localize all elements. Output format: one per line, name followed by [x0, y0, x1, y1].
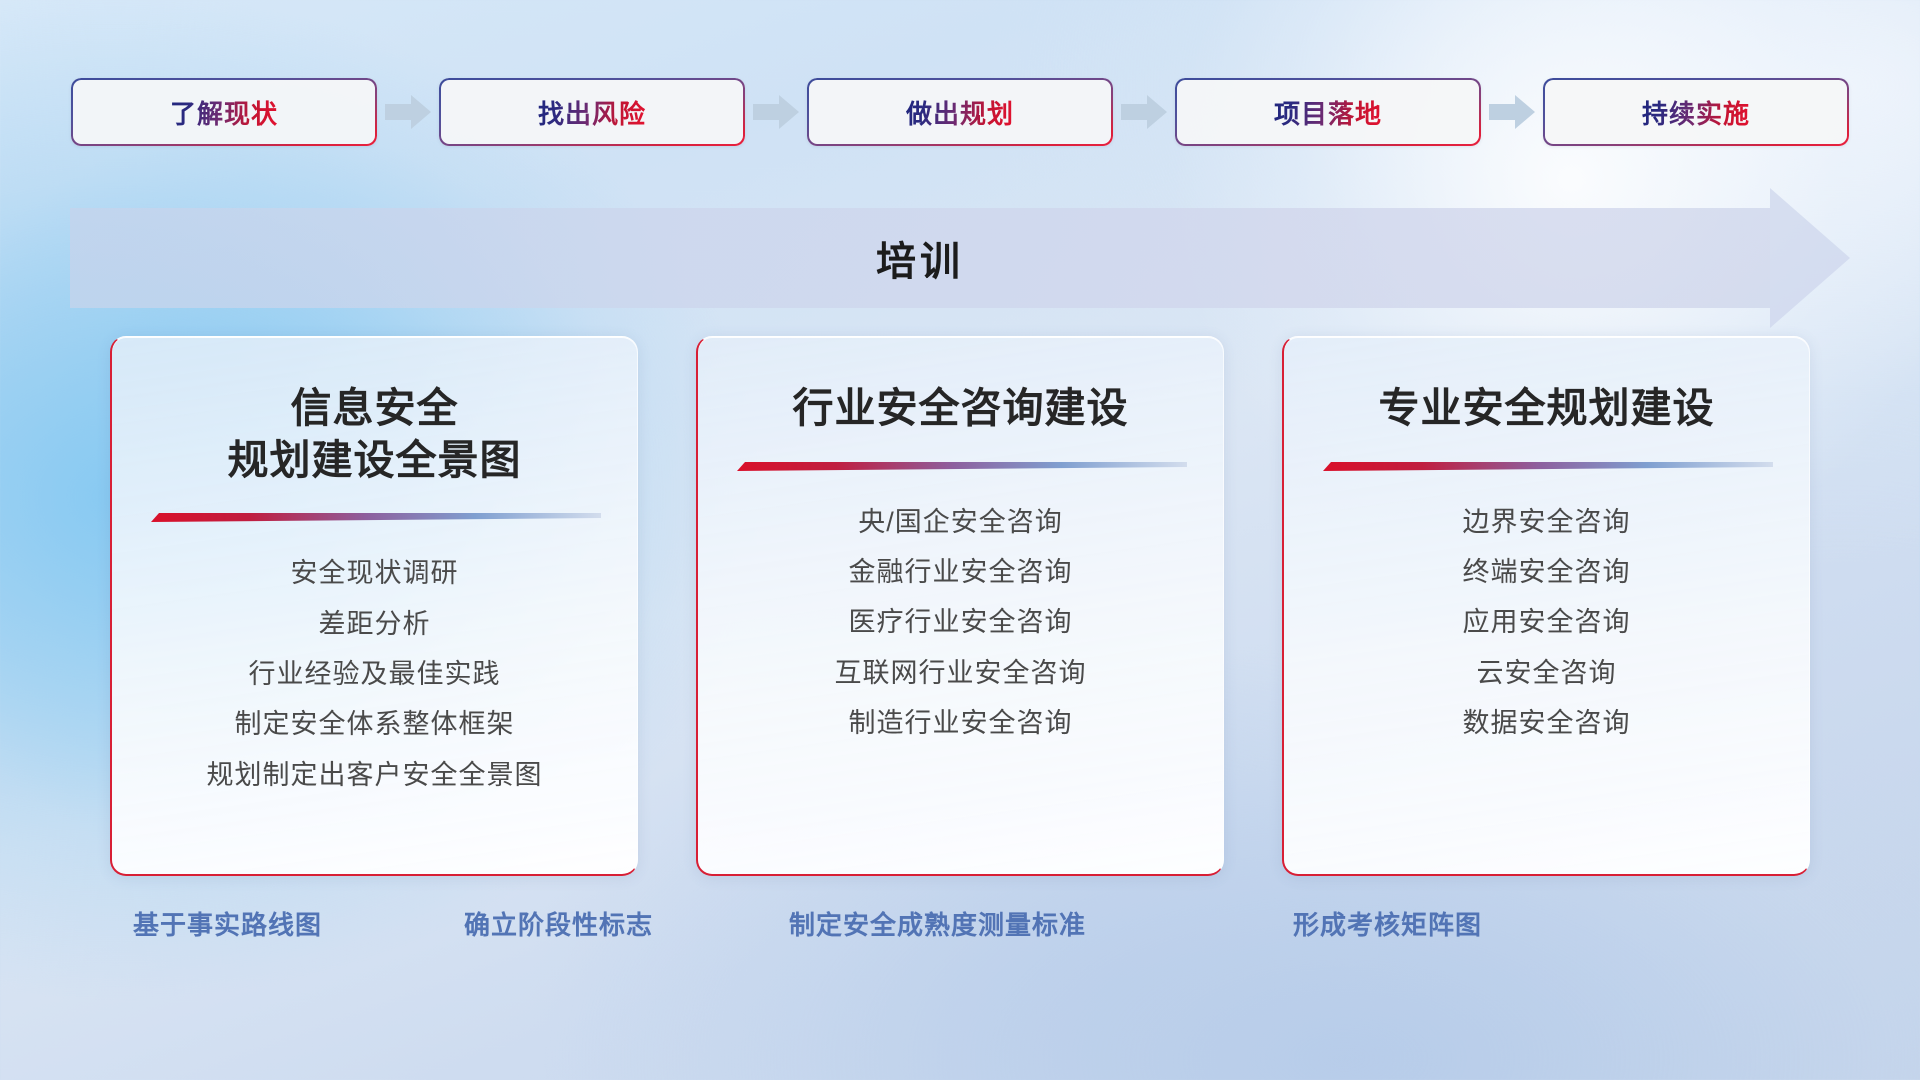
footer-label-2: 确立阶段性标志: [464, 905, 653, 942]
step-box-5[interactable]: 持续实施: [1543, 78, 1849, 146]
list-item: 互联网行业安全咨询: [835, 657, 1087, 689]
card-title: 信息安全 规划建设全景图: [228, 383, 522, 486]
step-label: 了解现状: [170, 94, 278, 131]
list-item: 终端安全咨询: [1463, 556, 1631, 588]
list-item: 差距分析: [319, 608, 431, 640]
step-box-3[interactable]: 做出规划: [807, 78, 1113, 146]
right-arrow-icon: [377, 92, 439, 132]
step-label: 持续实施: [1642, 94, 1750, 131]
list-item: 央/国企安全咨询: [858, 506, 1063, 538]
list-item: 医疗行业安全咨询: [849, 606, 1073, 638]
card-1[interactable]: 信息安全 规划建设全景图 安全现状调研 差距分析 行业经验及最佳实践: [110, 336, 638, 876]
training-banner: 培训: [70, 208, 1850, 308]
card-item-list: 央/国企安全咨询 金融行业安全咨询 医疗行业安全咨询 互联网行业安全咨询 制造行…: [728, 506, 1193, 740]
card-2[interactable]: 行业安全咨询建设 央/国企安全咨询 金融行业安全咨询 医疗行业安全咨询: [696, 336, 1224, 876]
list-item: 行业经验及最佳实践: [249, 658, 501, 690]
card-divider: [735, 461, 1187, 472]
list-item: 数据安全咨询: [1463, 707, 1631, 739]
step-box-4[interactable]: 项目落地: [1175, 78, 1481, 146]
list-item: 应用安全咨询: [1463, 606, 1631, 638]
card-row: 信息安全 规划建设全景图 安全现状调研 差距分析 行业经验及最佳实践: [0, 336, 1920, 876]
footer-label-3: 制定安全成熟度测量标准: [789, 905, 1086, 942]
list-item: 边界安全咨询: [1463, 506, 1631, 538]
step-label: 找出风险: [538, 94, 646, 131]
banner-arrow-head-icon: [1770, 188, 1850, 328]
card-item-list: 边界安全咨询 终端安全咨询 应用安全咨询 云安全咨询 数据安全咨询: [1314, 506, 1779, 740]
card-divider: [149, 512, 601, 523]
list-item: 制造行业安全咨询: [849, 707, 1073, 739]
list-item: 金融行业安全咨询: [849, 556, 1073, 588]
list-item: 制定安全体系整体框架: [235, 708, 515, 740]
step-label: 做出规划: [906, 94, 1014, 131]
card-divider: [1321, 461, 1773, 472]
card-title: 专业安全规划建设: [1379, 383, 1715, 435]
footer-label-1: 基于事实路线图: [133, 905, 322, 942]
list-item: 安全现状调研: [291, 557, 459, 589]
right-arrow-icon: [745, 92, 807, 132]
right-arrow-icon: [1113, 92, 1175, 132]
list-item: 云安全咨询: [1477, 657, 1617, 689]
step-box-2[interactable]: 找出风险: [439, 78, 745, 146]
step-label: 项目落地: [1274, 94, 1382, 131]
process-step-row: 了解现状 找出风险 做出规划 项目落地 持续实施: [0, 78, 1920, 146]
card-title: 行业安全咨询建设: [793, 383, 1129, 435]
step-box-1[interactable]: 了解现状: [71, 78, 377, 146]
footer-label-row: 基于事实路线图 确立阶段性标志 制定安全成熟度测量标准 形成考核矩阵图: [0, 905, 1920, 953]
banner-title: 培训: [70, 208, 1770, 308]
list-item: 规划制定出客户安全全景图: [207, 759, 543, 791]
footer-label-4: 形成考核矩阵图: [1293, 905, 1482, 942]
right-arrow-icon: [1481, 92, 1543, 132]
card-item-list: 安全现状调研 差距分析 行业经验及最佳实践 制定安全体系整体框架 规划制定出客户…: [142, 557, 607, 791]
card-3[interactable]: 专业安全规划建设 边界安全咨询 终端安全咨询 应用安全咨询 云安全: [1282, 336, 1810, 876]
